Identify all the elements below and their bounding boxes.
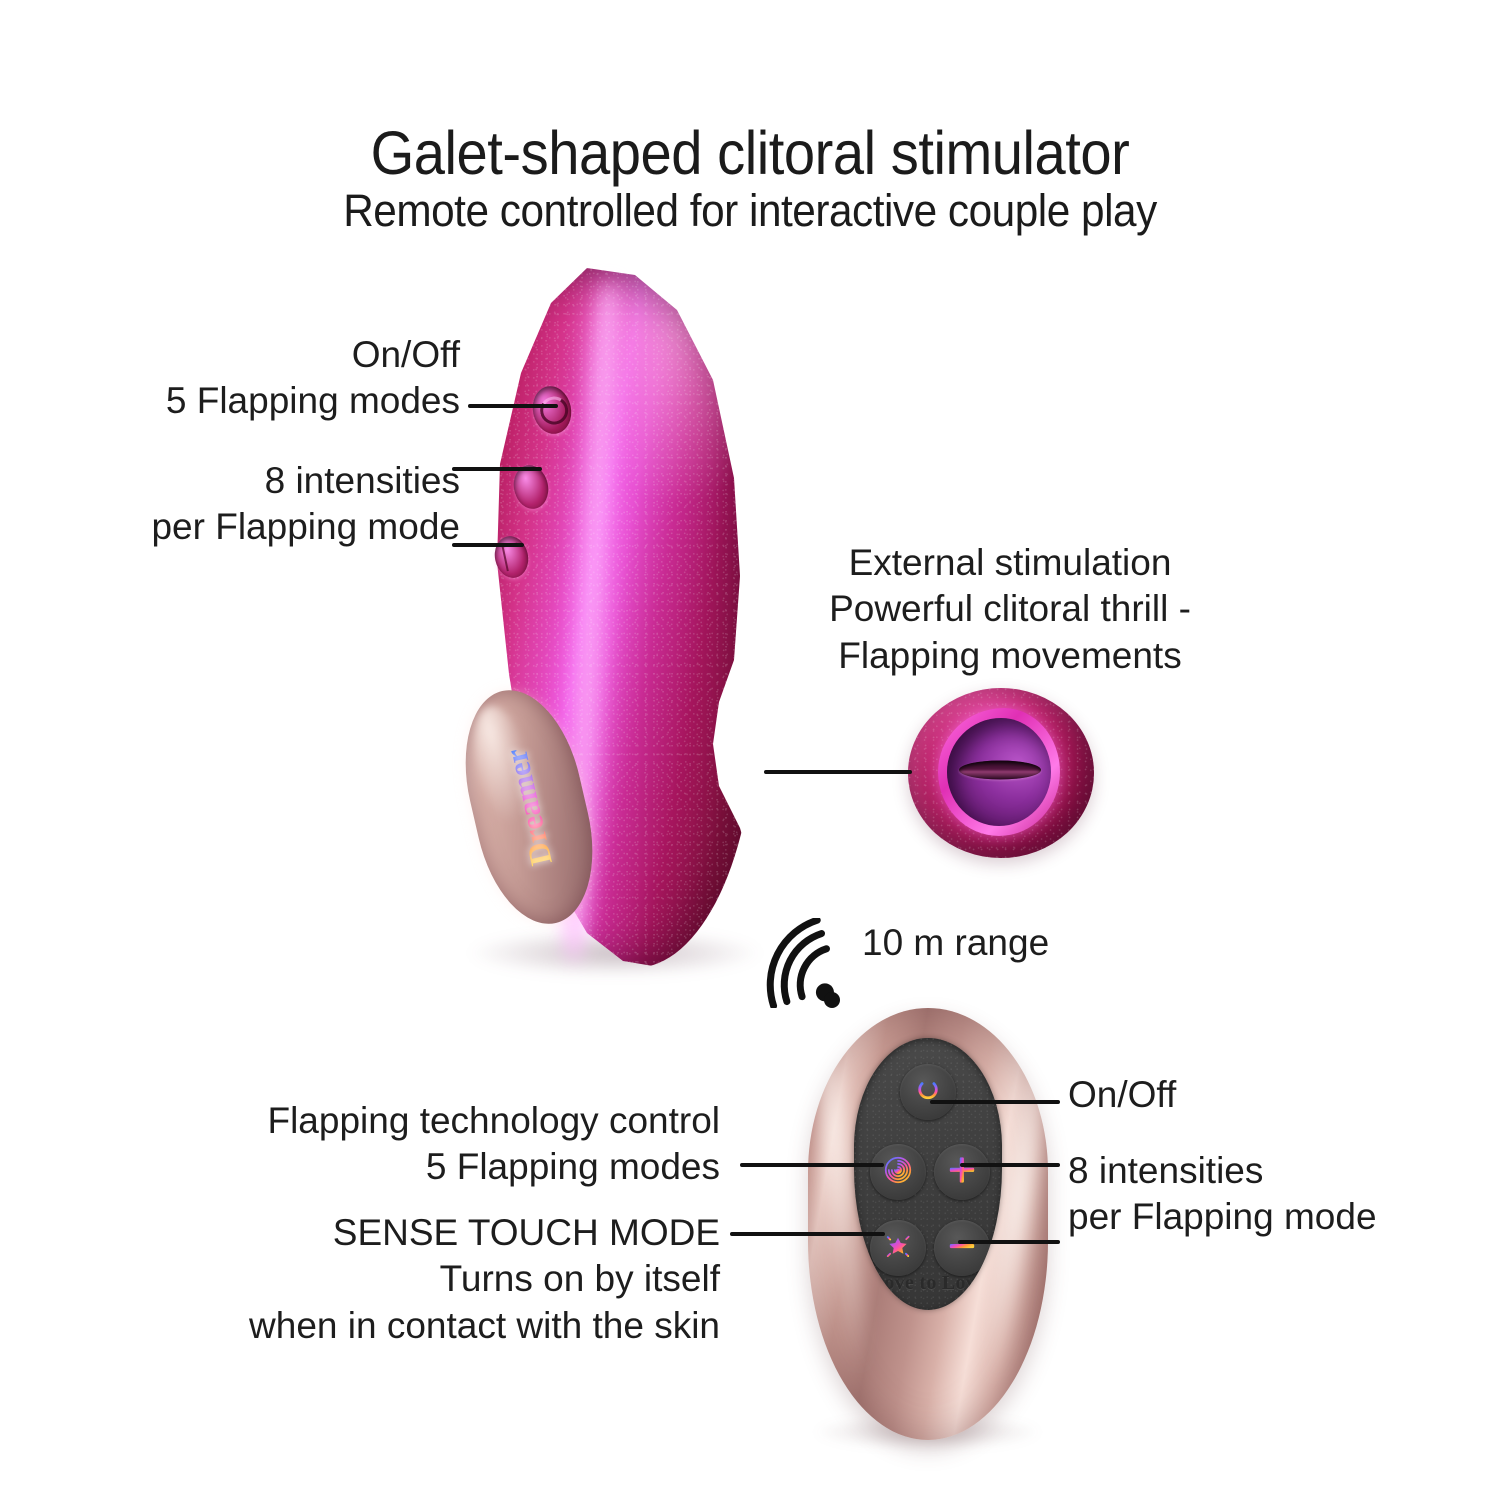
wifi-signal-icon xyxy=(762,918,846,1008)
label-remote-power: On/Off xyxy=(1068,1072,1468,1118)
remote-intensity-down-button[interactable] xyxy=(934,1220,990,1276)
sparkle-star-icon xyxy=(883,1231,913,1266)
remote-sense-touch-button[interactable] xyxy=(870,1220,926,1276)
leader-remote-power xyxy=(930,1100,1060,1104)
remote-control: Love to Love xyxy=(808,1008,1048,1440)
device-brand-logo: Dreamer xyxy=(498,745,560,868)
remote-button-panel: Love to Love xyxy=(854,1038,1002,1310)
leader-remote-intensity-top xyxy=(960,1163,1060,1167)
label-device-intensity: 8 intensities per Flapping mode xyxy=(80,458,460,551)
nozzle-outer-ring xyxy=(938,708,1060,836)
remote-brand-label: Love to Love xyxy=(854,1272,1002,1295)
leader-remote-intensity-bottom xyxy=(958,1240,1060,1244)
label-range: 10 m range xyxy=(862,920,1162,966)
label-remote-flapping: Flapping technology control 5 Flapping m… xyxy=(160,1098,720,1191)
plus-icon xyxy=(947,1155,977,1190)
page-subtitle: Remote controlled for interactive couple… xyxy=(45,185,1455,237)
remote-power-button[interactable] xyxy=(900,1064,956,1120)
label-remote-intensity: 8 intensities per Flapping mode xyxy=(1068,1148,1468,1241)
remote-flapping-mode-button[interactable] xyxy=(870,1144,926,1200)
leader-remote-sense-touch xyxy=(730,1232,885,1236)
minus-icon xyxy=(947,1231,977,1266)
label-device-power: On/Off 5 Flapping modes xyxy=(80,332,460,425)
label-nozzle: External stimulation Powerful clitoral t… xyxy=(790,540,1230,679)
leader-device-power xyxy=(468,404,558,408)
leader-device-intensity-bottom xyxy=(452,543,524,547)
concentric-waves-icon xyxy=(884,1156,912,1189)
clitoral-stimulator-device: Dreamer xyxy=(455,268,775,968)
nozzle-cavity xyxy=(947,718,1051,826)
infographic-canvas: Galet-shaped clitoral stimulator Remote … xyxy=(0,0,1500,1500)
nozzle-flapping-slit xyxy=(959,760,1041,779)
label-remote-sense-touch: SENSE TOUCH MODE Turns on by itself when… xyxy=(130,1210,720,1349)
remote-intensity-up-button[interactable] xyxy=(934,1144,990,1200)
nozzle-detail-view xyxy=(908,688,1094,858)
page-title: Galet-shaped clitoral stimulator xyxy=(60,118,1440,188)
leader-remote-flapping xyxy=(740,1163,884,1167)
leader-device-intensity-top xyxy=(452,467,542,471)
leader-nozzle xyxy=(764,770,912,774)
